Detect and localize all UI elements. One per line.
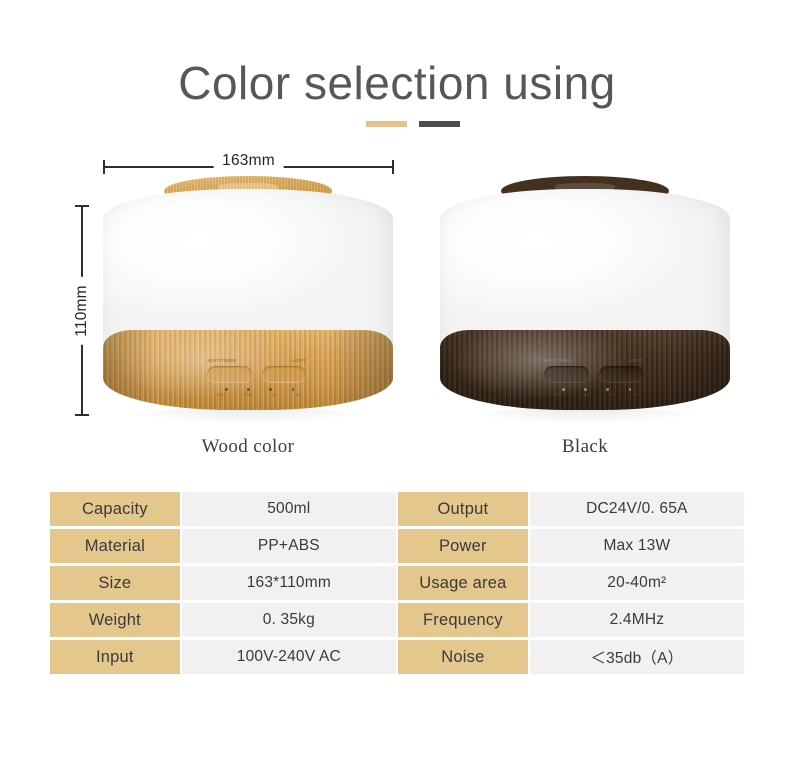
spec-value: 0. 35kg xyxy=(182,603,396,637)
spec-key: Usage area xyxy=(398,566,528,600)
led-indicators xyxy=(562,388,631,391)
spec-value: 2.4MHz xyxy=(530,603,744,637)
title-accent-bars xyxy=(0,121,794,128)
dimension-endcap-right xyxy=(392,160,394,174)
product-image-black: MIST/TIMER LIGHT MIST TIME 1H 3H xyxy=(440,176,730,424)
led-indicator xyxy=(584,388,587,391)
accent-bar-gold xyxy=(366,121,407,127)
spec-key: Noise xyxy=(398,640,528,674)
spec-value: 163*110mm xyxy=(182,566,396,600)
spec-key: Material xyxy=(50,529,180,563)
spec-key: Input xyxy=(50,640,180,674)
table-row: Input 100V-240V AC Noise ＜35db（A） xyxy=(50,640,744,674)
light-label: LIGHT xyxy=(628,358,643,363)
height-dimension-label: 110mm xyxy=(73,277,91,345)
led-caption: MIST xyxy=(554,393,562,397)
table-row: Size 163*110mm Usage area 20-40m² xyxy=(50,566,744,600)
mist-timer-button[interactable] xyxy=(207,366,251,383)
table-row: Capacity 500ml Output DC24V/0. 65A xyxy=(50,492,744,526)
page-title: Color selection using xyxy=(0,58,794,109)
light-button[interactable] xyxy=(599,366,643,383)
led-indicator xyxy=(269,388,272,391)
product-shadow xyxy=(463,408,707,424)
button-labels: MIST/TIMER LIGHT xyxy=(207,358,306,363)
table-row: Material PP+ABS Power Max 13W xyxy=(50,529,744,563)
led-indicator xyxy=(247,388,250,391)
width-dimension-label: 163mm xyxy=(213,152,284,170)
light-label: LIGHT xyxy=(291,358,306,363)
dimension-endcap-top xyxy=(75,205,89,207)
product-caption-wood: Wood color xyxy=(103,436,393,458)
product-image-wood: MIST/TIMER LIGHT MIST TIME 1H 3H xyxy=(103,176,393,424)
led-caption: 1H xyxy=(272,393,276,397)
button-row xyxy=(207,366,306,383)
led-caption: MIST xyxy=(217,393,225,397)
led-caption: TIME xyxy=(582,393,590,397)
led-indicator xyxy=(606,388,609,391)
accent-bar-dark xyxy=(419,121,460,127)
specification-table: Capacity 500ml Output DC24V/0. 65A Mater… xyxy=(48,489,746,677)
led-indicator xyxy=(292,388,295,391)
dimension-endcap-bottom xyxy=(75,414,89,416)
dimension-endcap-left xyxy=(103,160,105,174)
width-dimension-line: 163mm xyxy=(103,160,394,174)
product-shadow xyxy=(126,408,370,424)
button-labels: MIST/TIMER LIGHT xyxy=(544,358,643,363)
spec-value: Max 13W xyxy=(530,529,744,563)
light-button[interactable] xyxy=(262,366,306,383)
control-panel-wood: MIST/TIMER LIGHT MIST TIME 1H 3H xyxy=(207,358,306,404)
spec-key: Power xyxy=(398,529,528,563)
led-caption: 1H xyxy=(609,393,613,397)
spec-key: Weight xyxy=(50,603,180,637)
led-indicator xyxy=(225,388,228,391)
led-caption: 3H xyxy=(633,393,637,397)
spec-value: PP+ABS xyxy=(182,529,396,563)
led-captions: MIST TIME 1H 3H xyxy=(554,393,637,397)
spec-value: ＜35db（A） xyxy=(530,640,744,674)
height-dimension-line: 110mm xyxy=(75,205,89,416)
mist-timer-label: MIST/TIMER xyxy=(544,358,573,363)
spec-value: 20-40m² xyxy=(530,566,744,600)
control-panel-black: MIST/TIMER LIGHT MIST TIME 1H 3H xyxy=(544,358,643,404)
led-indicator xyxy=(629,388,632,391)
product-caption-black: Black xyxy=(440,436,730,458)
mist-timer-label: MIST/TIMER xyxy=(207,358,236,363)
led-caption: 3H xyxy=(296,393,300,397)
button-row xyxy=(544,366,643,383)
spec-value: DC24V/0. 65A xyxy=(530,492,744,526)
table-row: Weight 0. 35kg Frequency 2.4MHz xyxy=(50,603,744,637)
mist-timer-button[interactable] xyxy=(544,366,588,383)
spec-value: 500ml xyxy=(182,492,396,526)
spec-key: Frequency xyxy=(398,603,528,637)
spec-value: 100V-240V AC xyxy=(182,640,396,674)
spec-table-body: Capacity 500ml Output DC24V/0. 65A Mater… xyxy=(50,492,744,674)
spec-key: Output xyxy=(398,492,528,526)
spec-key: Size xyxy=(50,566,180,600)
led-captions: MIST TIME 1H 3H xyxy=(217,393,300,397)
spec-key: Capacity xyxy=(50,492,180,526)
led-indicators xyxy=(225,388,294,391)
led-indicator xyxy=(562,388,565,391)
led-caption: TIME xyxy=(245,393,253,397)
